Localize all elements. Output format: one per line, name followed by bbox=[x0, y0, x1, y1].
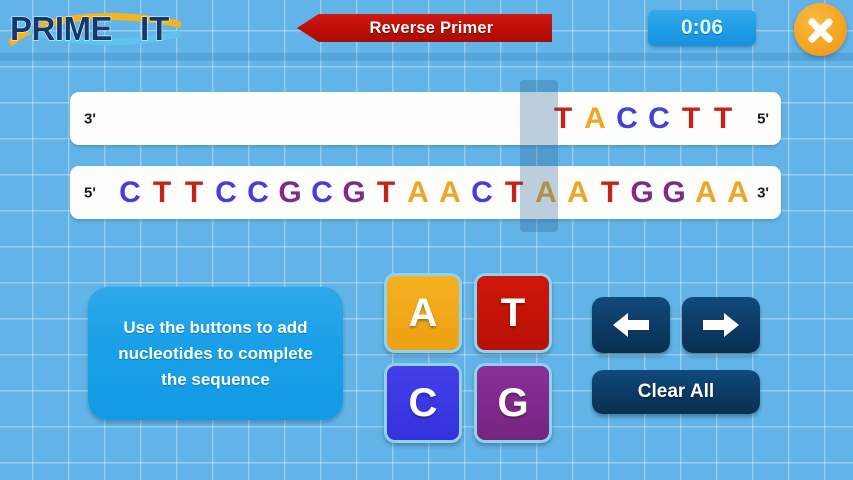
header-divider bbox=[0, 53, 853, 61]
app-logo: PRIME IT bbox=[6, 4, 186, 52]
bottom-nucleotide-11: C bbox=[466, 166, 498, 219]
clear-all-button[interactable]: Clear All bbox=[592, 370, 760, 414]
bottom-nucleotide-7: G bbox=[338, 166, 370, 219]
bottom-nucleotide-17: G bbox=[658, 166, 690, 219]
hint-bubble: Use the buttons to add nucleotides to co… bbox=[88, 287, 343, 420]
banner-label: Reverse Primer bbox=[297, 14, 552, 42]
top-nucleotide-3: C bbox=[643, 92, 675, 145]
top-nucleotide-2: C bbox=[611, 92, 643, 145]
bottom-nucleotide-16: G bbox=[626, 166, 658, 219]
nucleotide-button-a-label: A bbox=[409, 291, 438, 336]
bottom-nucleotide-13: A bbox=[530, 166, 562, 219]
bottom-nucleotide-5: G bbox=[274, 166, 306, 219]
nucleotide-button-g-label: G bbox=[497, 381, 528, 426]
bottom-nucleotide-18: A bbox=[690, 166, 722, 219]
nucleotide-button-a[interactable]: A bbox=[384, 273, 462, 353]
top-nucleotide-1: A bbox=[579, 92, 611, 145]
template-strand-row: 5' CTTCCGCGTAACTAATGGAA 3' bbox=[70, 166, 781, 219]
arrow-left-icon bbox=[610, 310, 652, 340]
top-strand-right-end-label: 5' bbox=[757, 110, 769, 127]
nucleotide-button-c-label: C bbox=[409, 381, 438, 426]
timer-display: 0:06 bbox=[648, 10, 756, 46]
hint-text: Use the buttons to add nucleotides to co… bbox=[104, 315, 327, 393]
top-nucleotide-0: T bbox=[547, 92, 579, 145]
bottom-strand-right-end-label: 3' bbox=[757, 184, 769, 201]
bottom-nucleotide-12: T bbox=[498, 166, 530, 219]
arrow-right-icon bbox=[700, 310, 742, 340]
timer-value: 0:06 bbox=[681, 16, 723, 40]
svg-text:IT: IT bbox=[140, 10, 169, 47]
clear-all-label: Clear All bbox=[638, 381, 714, 403]
nucleotide-button-c[interactable]: C bbox=[384, 363, 462, 443]
bottom-nucleotide-2: T bbox=[178, 166, 210, 219]
top-nucleotide-4: T bbox=[675, 92, 707, 145]
bottom-nucleotide-6: C bbox=[306, 166, 338, 219]
top-strand-sequence: TACCTT bbox=[547, 92, 739, 145]
nucleotide-button-t-label: T bbox=[501, 291, 525, 336]
top-strand-left-end-label: 3' bbox=[84, 110, 96, 127]
close-button[interactable] bbox=[794, 3, 847, 56]
mode-banner: Reverse Primer bbox=[297, 14, 552, 42]
bottom-nucleotide-8: T bbox=[370, 166, 402, 219]
bottom-nucleotide-10: A bbox=[434, 166, 466, 219]
game-screen: PRIME IT Reverse Primer 0:06 3' TACCTT 5… bbox=[0, 0, 853, 480]
move-cursor-left-button[interactable] bbox=[592, 297, 670, 353]
bottom-nucleotide-3: C bbox=[210, 166, 242, 219]
bottom-strand-left-end-label: 5' bbox=[84, 184, 96, 201]
bottom-nucleotide-14: A bbox=[562, 166, 594, 219]
bottom-nucleotide-9: A bbox=[402, 166, 434, 219]
nucleotide-button-t[interactable]: T bbox=[474, 273, 552, 353]
primer-strand-row[interactable]: 3' TACCTT 5' bbox=[70, 92, 781, 145]
bottom-nucleotide-0: C bbox=[114, 166, 146, 219]
bottom-nucleotide-4: C bbox=[242, 166, 274, 219]
svg-text:PRIME: PRIME bbox=[10, 10, 112, 47]
bottom-nucleotide-15: T bbox=[594, 166, 626, 219]
move-cursor-right-button[interactable] bbox=[682, 297, 760, 353]
bottom-nucleotide-1: T bbox=[146, 166, 178, 219]
bottom-nucleotide-19: A bbox=[722, 166, 754, 219]
nucleotide-button-g[interactable]: G bbox=[474, 363, 552, 443]
top-nucleotide-5: T bbox=[707, 92, 739, 145]
bottom-strand-sequence: CTTCCGCGTAACTAATGGAA bbox=[114, 166, 754, 219]
